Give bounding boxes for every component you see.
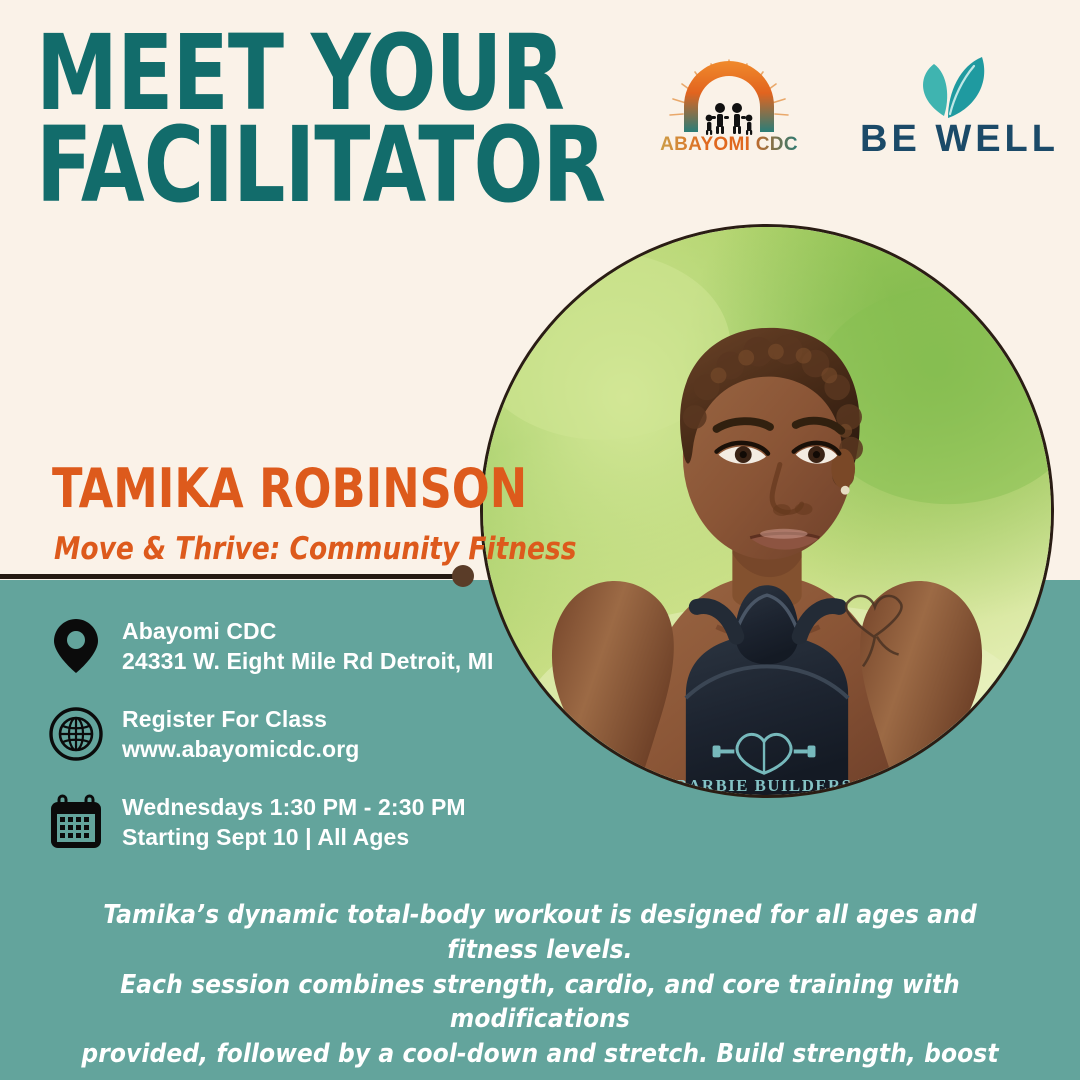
location-pin-icon <box>44 614 108 678</box>
website-url[interactable]: www.abayomicdc.org <box>122 734 359 764</box>
headline-line-2: FACILITATOR <box>36 120 564 212</box>
description-line-3: provided, followed by a cool-down and st… <box>70 1037 1010 1080</box>
house-sunrise-family-icon <box>656 58 802 138</box>
section-divider <box>0 574 468 579</box>
detail-row-website[interactable]: Register For Class www.abayomicdc.org <box>44 702 474 766</box>
detail-text-website: Register For Class www.abayomicdc.org <box>122 704 359 765</box>
abayomi-cdc-wordmark: ABAYOMI CDC <box>656 134 802 156</box>
calendar-icon <box>44 790 108 854</box>
detail-text-schedule: Wednesdays 1:30 PM - 2:30 PM Starting Se… <box>122 792 466 853</box>
description-line-2: Each session combines strength, cardio, … <box>70 968 1010 1038</box>
event-details: Abayomi CDC 24331 W. Eight Mile Rd Detro… <box>44 614 474 878</box>
facilitator-tagline: Move & Thrive: Community Fitness <box>54 534 577 565</box>
schedule-time: Wednesdays 1:30 PM - 2:30 PM <box>122 792 466 822</box>
facilitator-portrait: BARBIE BUILDERS <box>480 224 1054 798</box>
register-label: Register For Class <box>122 704 359 734</box>
description-line-1: Tamika’s dynamic total-body workout is d… <box>70 898 1010 968</box>
page-title: MEET YOUR FACILITATOR <box>36 28 564 211</box>
two-leaves-icon <box>904 56 996 118</box>
detail-row-location: Abayomi CDC 24331 W. Eight Mile Rd Detro… <box>44 614 474 678</box>
schedule-start: Starting Sept 10 | All Ages <box>122 822 466 852</box>
detail-text-location: Abayomi CDC 24331 W. Eight Mile Rd Detro… <box>122 616 493 677</box>
globe-icon <box>44 702 108 766</box>
program-description: Tamika’s dynamic total-body workout is d… <box>70 898 1010 1080</box>
logo-group: ABAYOMI CDC BE WELL <box>656 56 1042 168</box>
flyer-canvas: MEET YOUR FACILITATOR <box>0 0 1080 1080</box>
abayomi-cdc-logo: ABAYOMI CDC <box>656 58 802 166</box>
venue-name: Abayomi CDC <box>122 616 493 646</box>
detail-row-schedule: Wednesdays 1:30 PM - 2:30 PM Starting Se… <box>44 790 474 854</box>
be-well-logo: BE WELL <box>860 56 1042 168</box>
venue-address: 24331 W. Eight Mile Rd Detroit, MI <box>122 646 493 676</box>
divider-dot <box>452 565 474 587</box>
be-well-wordmark: BE WELL <box>860 118 1042 161</box>
facilitator-name: TAMIKA ROBINSON <box>52 462 527 516</box>
